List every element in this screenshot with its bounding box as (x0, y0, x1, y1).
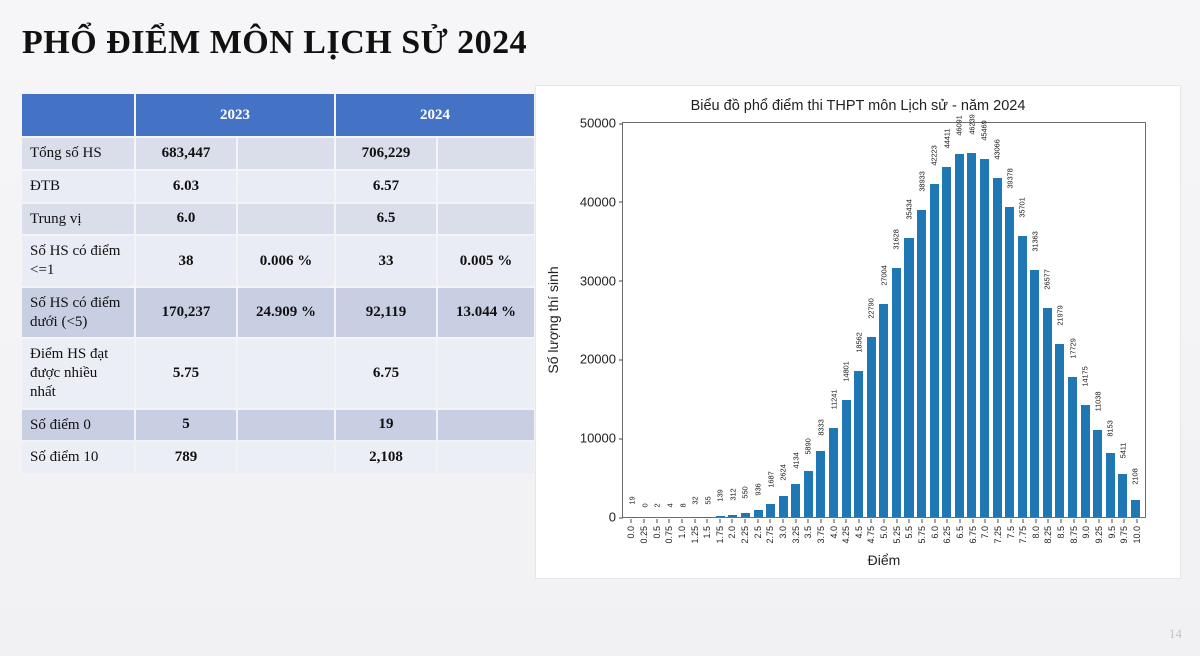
bar-value-label: 21979 (1055, 305, 1064, 325)
bar-slot[interactable]: 35434 (903, 123, 916, 517)
cell-value-2023: 170,237 (136, 288, 236, 338)
bar-value-label: 11038 (1093, 392, 1102, 412)
cell-percent-2024 (438, 138, 534, 169)
x-axis-tick-label: 4.75 (866, 526, 876, 544)
chart-title: Biểu đồ phổ điểm thi THPT môn Lịch sử - … (536, 98, 1180, 114)
bar[interactable] (1106, 453, 1115, 517)
bar-slot[interactable]: 139 (714, 123, 727, 517)
x-axis-tick-mark (770, 519, 771, 523)
bar-slot[interactable]: 17729 (1066, 123, 1079, 517)
header-cell-2024: 2024 (336, 94, 534, 136)
bar[interactable] (955, 154, 964, 517)
x-axis-tick-label: 9.0 (1081, 526, 1091, 539)
x-axis-tick-label: 5.0 (879, 526, 889, 539)
cell-percent-2023 (238, 410, 334, 441)
x-axis-tick-mark (1111, 519, 1112, 523)
x-axis-tick-mark (884, 519, 885, 523)
bar-value-label: 8 (678, 503, 687, 507)
bar-value-label: 27004 (879, 266, 888, 286)
bar-value-label: 550 (741, 486, 750, 498)
x-axis-tick-label: 10.0 (1132, 526, 1142, 544)
row-label: Điểm HS đạt được nhiều nhất (22, 339, 134, 407)
bar[interactable] (892, 268, 901, 517)
x-axis-tick-label: 7.25 (993, 526, 1003, 544)
bar-value-label: 2 (653, 503, 662, 507)
bar-value-label: 22790 (867, 299, 876, 319)
bar[interactable] (1030, 270, 1039, 517)
bar[interactable] (917, 210, 926, 517)
x-axis-tick-mark (707, 519, 708, 523)
x-axis-tick-label: 1.25 (690, 526, 700, 544)
bar[interactable] (728, 515, 737, 517)
bar[interactable] (1068, 377, 1077, 517)
x-axis-tick-label: 9.75 (1119, 526, 1129, 544)
cell-value-2024: 2,108 (336, 442, 436, 473)
bar-value-label: 312 (728, 488, 737, 500)
bar[interactable] (879, 304, 888, 517)
chart-panel: Biểu đồ phổ điểm thi THPT môn Lịch sử - … (536, 86, 1180, 578)
table-row: Trung vị6.06.5 (22, 204, 534, 235)
y-axis-tick-label: 40000 (580, 194, 623, 209)
slide-canvas: PHỔ ĐIỂM MÔN LỊCH SỬ 2024 2023 2024 Tổng… (0, 0, 1200, 656)
x-axis-tick-label: 2.25 (740, 526, 750, 544)
bar-slot[interactable]: 45469 (978, 123, 991, 517)
row-label: Số HS có điểm dưới (<5) (22, 288, 134, 338)
cell-value-2023: 683,447 (136, 138, 236, 169)
page-title: PHỔ ĐIỂM MÔN LỊCH SỬ 2024 (22, 24, 527, 62)
table-row: Số điểm 0519 (22, 410, 534, 441)
bar[interactable] (766, 504, 775, 517)
bar-value-label: 55 (703, 497, 712, 505)
bar-slot[interactable]: 2108 (1129, 123, 1142, 517)
page-number: 14 (1169, 626, 1182, 642)
bar-slot[interactable]: 31363 (1029, 123, 1042, 517)
bar-slot[interactable]: 5411 (1117, 123, 1130, 517)
row-label: ĐTB (22, 171, 134, 202)
y-axis-label-holder: Số lượng thí sinh (542, 122, 564, 518)
bar[interactable] (1118, 474, 1127, 517)
bar-slot[interactable]: 42223 (928, 123, 941, 517)
bar-slot[interactable]: 2 (651, 123, 664, 517)
bar-slot[interactable]: 44411 (940, 123, 953, 517)
bar[interactable] (854, 371, 863, 517)
x-axis-tick-mark (871, 519, 872, 523)
x-axis-tick-label: 0.0 (626, 526, 636, 539)
bar-value-label: 31628 (892, 229, 901, 249)
bar[interactable] (779, 496, 788, 517)
bar[interactable] (867, 337, 876, 517)
bar-value-label: 8333 (816, 419, 825, 435)
bar-value-label: 44411 (942, 129, 951, 149)
x-axis-tick-label: 8.5 (1056, 526, 1066, 539)
x-axis-tick-mark (1124, 519, 1125, 523)
table-row: Số HS có điểm dưới (<5)170,23724.909 %92… (22, 288, 534, 338)
cell-percent-2024 (438, 339, 534, 407)
cell-percent-2023: 0.006 % (238, 236, 334, 286)
cell-percent-2023 (238, 204, 334, 235)
x-axis-tick-mark (795, 519, 796, 523)
x-axis-tick-mark (1035, 519, 1036, 523)
x-axis-tick-label: 3.0 (778, 526, 788, 539)
x-axis-tick-label: 7.75 (1018, 526, 1028, 544)
x-axis-tick-mark (808, 519, 809, 523)
bar-slot[interactable]: 14175 (1079, 123, 1092, 517)
x-axis-tick-mark (972, 519, 973, 523)
bar-slot[interactable]: 4134 (790, 123, 803, 517)
bar-slot[interactable]: 8333 (815, 123, 828, 517)
cell-value-2024: 92,119 (336, 288, 436, 338)
x-axis-tick-mark (1023, 519, 1024, 523)
bar-value-label: 32 (691, 497, 700, 505)
x-axis-tick-mark (681, 519, 682, 523)
bar-slot[interactable]: 46239 (966, 123, 979, 517)
bar[interactable] (904, 238, 913, 517)
x-axis-tick-label: 3.25 (791, 526, 801, 544)
x-axis-tick-label: 1.75 (715, 526, 725, 544)
bar-slot[interactable]: 1687 (764, 123, 777, 517)
bar-slot[interactable]: 550 (739, 123, 752, 517)
bar-slot[interactable]: 19 (626, 123, 639, 517)
bar-value-label: 31363 (1030, 231, 1039, 251)
x-axis-tick-mark (1073, 519, 1074, 523)
x-axis-tick-label: 2.5 (753, 526, 763, 539)
bar-slot[interactable]: 11038 (1091, 123, 1104, 517)
x-axis-tick-label: 7.0 (980, 526, 990, 539)
row-label: Tổng số HS (22, 138, 134, 169)
cell-value-2023: 5 (136, 410, 236, 441)
x-axis-tick-label: 7.5 (1006, 526, 1016, 539)
bar-value-label: 5890 (804, 438, 813, 454)
cell-percent-2024 (438, 442, 534, 473)
x-axis-tick-mark (1086, 519, 1087, 523)
x-axis-tick-mark (783, 519, 784, 523)
x-axis-tick-mark (745, 519, 746, 523)
table-row: Điểm HS đạt được nhiều nhất5.756.75 (22, 339, 534, 407)
x-axis-tick-mark (757, 519, 758, 523)
bar-slot[interactable]: 11241 (827, 123, 840, 517)
x-axis-tick-label: 2.0 (727, 526, 737, 539)
row-label: Số điểm 10 (22, 442, 134, 473)
bar-value-label: 2624 (779, 464, 788, 480)
cell-percent-2024 (438, 171, 534, 202)
x-axis-tick-label: 9.5 (1107, 526, 1117, 539)
x-axis-tick-label: 6.75 (968, 526, 978, 544)
bar-slot[interactable]: 39378 (1003, 123, 1016, 517)
bar[interactable] (741, 513, 750, 517)
x-axis-tick-mark (846, 519, 847, 523)
table-row: ĐTB6.036.57 (22, 171, 534, 202)
x-axis-tick-label: 5.25 (892, 526, 902, 544)
y-axis-tick-label: 10000 (580, 431, 623, 446)
bar-value-label: 1687 (766, 471, 775, 487)
bar[interactable] (942, 167, 951, 517)
cell-value-2024: 6.75 (336, 339, 436, 407)
cell-percent-2024: 13.044 % (438, 288, 534, 338)
bar-value-label: 4 (666, 503, 675, 507)
y-axis-tick-label: 20000 (580, 352, 623, 367)
bar-slot[interactable]: 55 (701, 123, 714, 517)
cell-value-2024: 6.5 (336, 204, 436, 235)
bar-slot[interactable]: 22790 (865, 123, 878, 517)
x-axis-tick-label: 6.0 (930, 526, 940, 539)
bar-slot[interactable]: 46091 (953, 123, 966, 517)
bar-value-label: 17729 (1068, 339, 1077, 359)
bar-value-label: 46239 (967, 114, 976, 134)
cell-percent-2023 (238, 138, 334, 169)
x-axis-tick-mark (833, 519, 834, 523)
bar-value-label: 8153 (1106, 420, 1115, 436)
cell-percent-2024 (438, 204, 534, 235)
x-axis-tick-label: 3.5 (803, 526, 813, 539)
cell-value-2023: 789 (136, 442, 236, 473)
x-axis-tick-mark (719, 519, 720, 523)
bar-slot[interactable]: 936 (752, 123, 765, 517)
bar-slot[interactable]: 0 (639, 123, 652, 517)
bar[interactable] (980, 159, 989, 517)
row-label: Trung vị (22, 204, 134, 235)
bar-slot[interactable]: 14801 (840, 123, 853, 517)
bar[interactable] (993, 178, 1002, 517)
y-axis-tick-label: 0 (609, 510, 623, 525)
bar[interactable] (1093, 430, 1102, 517)
cell-percent-2024 (438, 410, 534, 441)
x-axis-tick-mark (985, 519, 986, 523)
x-axis-tick-label: 1.0 (677, 526, 687, 539)
x-axis-tick-label: 0.75 (664, 526, 674, 544)
bar-slot[interactable]: 312 (727, 123, 740, 517)
bar[interactable] (754, 510, 763, 517)
x-axis-tick-label: 1.5 (702, 526, 712, 539)
row-label: Số điểm 0 (22, 410, 134, 441)
bar-slot[interactable]: 43066 (991, 123, 1004, 517)
bar-value-label: 11241 (829, 390, 838, 410)
plot-area: 01000020000300004000050000 1902483255139… (622, 122, 1146, 518)
bar[interactable] (716, 516, 725, 517)
bar-slot[interactable]: 38933 (915, 123, 928, 517)
bar-series: 1902483255139312550936168726244134589083… (623, 123, 1145, 517)
x-axis-tick-label: 5.5 (904, 526, 914, 539)
row-label: Số HS có điểm <=1 (22, 236, 134, 286)
bar-slot[interactable]: 8153 (1104, 123, 1117, 517)
stats-table-body: Tổng số HS683,447706,229ĐTB6.036.57Trung… (22, 138, 534, 473)
x-axis-tick-mark (656, 519, 657, 523)
x-axis-tick-mark (631, 519, 632, 523)
x-axis-tick-mark (694, 519, 695, 523)
bar[interactable] (1055, 344, 1064, 517)
cell-value-2024: 19 (336, 410, 436, 441)
cell-value-2024: 6.57 (336, 171, 436, 202)
table-row: Số HS có điểm <=1380.006 %330.005 % (22, 236, 534, 286)
x-axis-tick-label: 3.75 (816, 526, 826, 544)
x-axis-tick-mark (858, 519, 859, 523)
x-axis-tick-mark (1048, 519, 1049, 523)
bar-slot[interactable]: 4 (664, 123, 677, 517)
bar[interactable] (1131, 500, 1140, 517)
bar[interactable] (804, 471, 813, 517)
x-axis-tick-label: 4.0 (829, 526, 839, 539)
bar-slot[interactable]: 27004 (878, 123, 891, 517)
bar-slot[interactable]: 5890 (802, 123, 815, 517)
x-axis-tick-mark (1061, 519, 1062, 523)
x-axis-tick-label: 0.25 (639, 526, 649, 544)
y-axis-label: Số lượng thí sinh (545, 266, 561, 373)
bar-value-label: 14801 (842, 362, 851, 382)
x-axis-tick-label: 8.75 (1069, 526, 1079, 544)
bar[interactable] (829, 428, 838, 517)
x-axis-tick-mark (820, 519, 821, 523)
y-axis-tick-label: 30000 (580, 273, 623, 288)
bar[interactable] (816, 451, 825, 517)
cell-value-2023: 5.75 (136, 339, 236, 407)
bar-value-label: 35701 (1018, 197, 1027, 217)
cell-value-2024: 33 (336, 236, 436, 286)
x-axis-tick-mark (947, 519, 948, 523)
header-cell-2023: 2023 (136, 94, 334, 136)
header-cell-blank (22, 94, 134, 136)
x-axis-tick-label: 4.25 (841, 526, 851, 544)
stats-table-head: 2023 2024 (22, 94, 534, 136)
cell-percent-2023 (238, 171, 334, 202)
x-axis-tick-label: 5.75 (917, 526, 927, 544)
bar-value-label: 39378 (1005, 168, 1014, 188)
bar-slot[interactable]: 31628 (890, 123, 903, 517)
x-axis-tick-mark (909, 519, 910, 523)
bar-slot[interactable]: 26577 (1041, 123, 1054, 517)
bar-value-label: 139 (716, 490, 725, 502)
bar-value-label: 43066 (993, 139, 1002, 159)
bar[interactable] (842, 400, 851, 517)
bar-value-label: 19 (628, 497, 637, 505)
table-row: Tổng số HS683,447706,229 (22, 138, 534, 169)
x-axis-tick-mark (922, 519, 923, 523)
bar[interactable] (1018, 236, 1027, 517)
stats-table: 2023 2024 Tổng số HS683,447706,229ĐTB6.0… (20, 92, 536, 475)
x-axis-tick-mark (934, 519, 935, 523)
bar-value-label: 18562 (854, 332, 863, 352)
x-axis-tick-label: 9.25 (1094, 526, 1104, 544)
bar[interactable] (791, 484, 800, 517)
stats-table-container: 2023 2024 Tổng số HS683,447706,229ĐTB6.0… (20, 92, 528, 475)
x-axis-tick-mark (997, 519, 998, 523)
cell-percent-2023: 24.909 % (238, 288, 334, 338)
bar[interactable] (1005, 207, 1014, 517)
x-axis-tick-mark (896, 519, 897, 523)
x-axis-tick-label: 8.25 (1043, 526, 1053, 544)
cell-value-2023: 6.0 (136, 204, 236, 235)
bar[interactable] (1043, 308, 1052, 517)
x-axis-tick-mark (669, 519, 670, 523)
bar[interactable] (1081, 405, 1090, 517)
cell-value-2023: 38 (136, 236, 236, 286)
bar-value-label: 0 (640, 503, 649, 507)
bar-value-label: 14175 (1081, 367, 1090, 387)
bar-value-label: 42223 (930, 146, 939, 166)
bar-value-label: 2108 (1131, 468, 1140, 484)
bar-slot[interactable]: 35701 (1016, 123, 1029, 517)
x-axis-tick-mark (732, 519, 733, 523)
bar[interactable] (930, 184, 939, 517)
bar-value-label: 38933 (917, 172, 926, 192)
bar-value-label: 26577 (1043, 269, 1052, 289)
cell-percent-2023 (238, 339, 334, 407)
bar-value-label: 936 (754, 483, 763, 495)
x-axis-tick-label: 0.5 (652, 526, 662, 539)
bar-slot[interactable]: 8 (676, 123, 689, 517)
x-axis-tick-label: 8.0 (1031, 526, 1041, 539)
bar-value-label: 35434 (905, 199, 914, 219)
bar-value-label: 46091 (955, 115, 964, 135)
x-axis-tick-label: 4.5 (854, 526, 864, 539)
bar-slot[interactable]: 2624 (777, 123, 790, 517)
x-axis-tick-label: 2.75 (765, 526, 775, 544)
x-axis-tick-mark (959, 519, 960, 523)
bar-value-label: 45469 (980, 120, 989, 140)
table-header-row: 2023 2024 (22, 94, 534, 136)
cell-value-2023: 6.03 (136, 171, 236, 202)
cell-value-2024: 706,229 (336, 138, 436, 169)
cell-percent-2024: 0.005 % (438, 236, 534, 286)
bar-slot[interactable]: 32 (689, 123, 702, 517)
x-axis-tick-label: 6.25 (942, 526, 952, 544)
y-axis-tick-label: 50000 (580, 116, 623, 131)
cell-percent-2023 (238, 442, 334, 473)
bar[interactable] (967, 153, 976, 517)
x-axis-tick-mark (1136, 519, 1137, 523)
x-axis-tick-mark (1099, 519, 1100, 523)
bar-slot[interactable]: 18562 (852, 123, 865, 517)
bar-value-label: 5411 (1118, 442, 1127, 458)
bar-slot[interactable]: 21979 (1054, 123, 1067, 517)
x-axis-tick-label: 6.5 (955, 526, 965, 539)
bar-value-label: 4134 (791, 452, 800, 468)
table-row: Số điểm 107892,108 (22, 442, 534, 473)
x-axis-label: Điểm (622, 552, 1146, 568)
x-axis-tick-mark (643, 519, 644, 523)
x-axis-tick-mark (1010, 519, 1011, 523)
